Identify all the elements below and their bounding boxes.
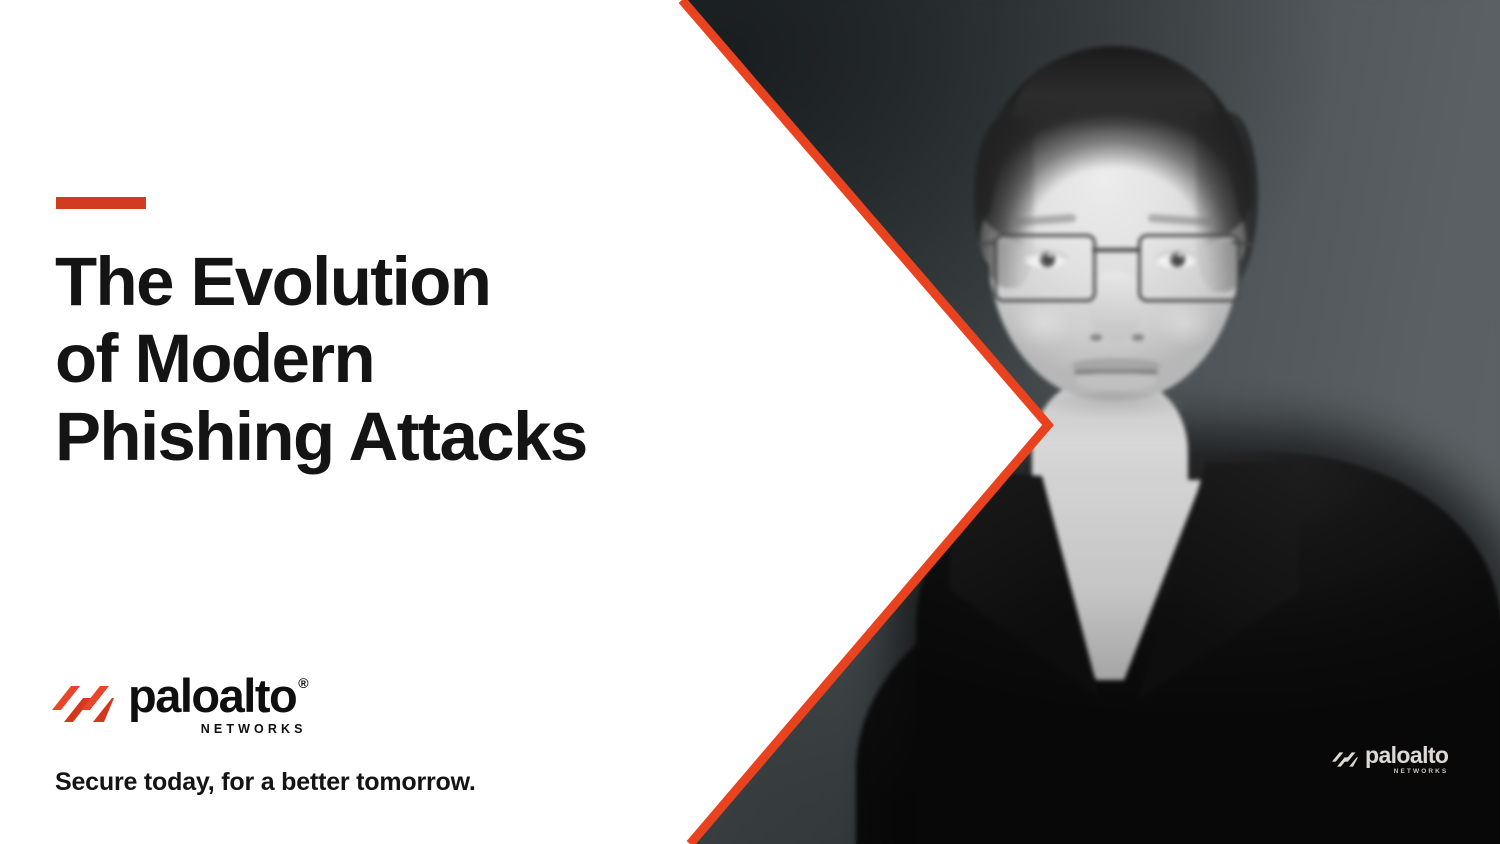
glasses-bridge [1092, 248, 1140, 252]
chin-shading [1036, 392, 1192, 432]
speaker-video-panel: paloalto NETWORKS [620, 0, 1500, 844]
lower-lip [1076, 373, 1156, 390]
presentation-slide: paloalto NETWORKS The Evolution of Moder… [0, 0, 1500, 844]
registered-trademark-symbol: ® [298, 676, 308, 690]
lens-right [1138, 234, 1240, 302]
shirt-wordmark-sub: NETWORKS [1394, 769, 1449, 776]
brand-tagline: Secure today, for a better tomorrow. [55, 768, 476, 797]
cheek-right [1156, 300, 1216, 348]
speaker-portrait [620, 0, 1500, 844]
brand-name: paloalto [128, 672, 296, 719]
brand-logo-lockup: paloalto ® NETWORKS [52, 672, 309, 736]
nostril-left [1090, 334, 1102, 341]
nostril-right [1132, 334, 1144, 341]
shirt-wordmark-name: paloalto [1365, 744, 1448, 767]
page-title: The Evolution of Modern Phishing Attacks [55, 243, 715, 475]
brand-sub-name: NETWORKS [201, 723, 307, 736]
brand-wordmark: paloalto ® NETWORKS [128, 672, 309, 736]
hair-top [1012, 48, 1218, 132]
paloalto-networks-logo-icon [1332, 749, 1358, 770]
eyeglasses [992, 230, 1238, 302]
shirt-wordmark: paloalto NETWORKS [1365, 744, 1448, 776]
brand-name-row: paloalto ® [128, 672, 309, 719]
title-accent-bar [56, 197, 146, 209]
lens-left [994, 234, 1096, 302]
paloalto-networks-logo-icon [52, 679, 114, 729]
shirt-brand-logo: paloalto NETWORKS [1332, 744, 1448, 776]
cheek-left [1012, 300, 1072, 348]
